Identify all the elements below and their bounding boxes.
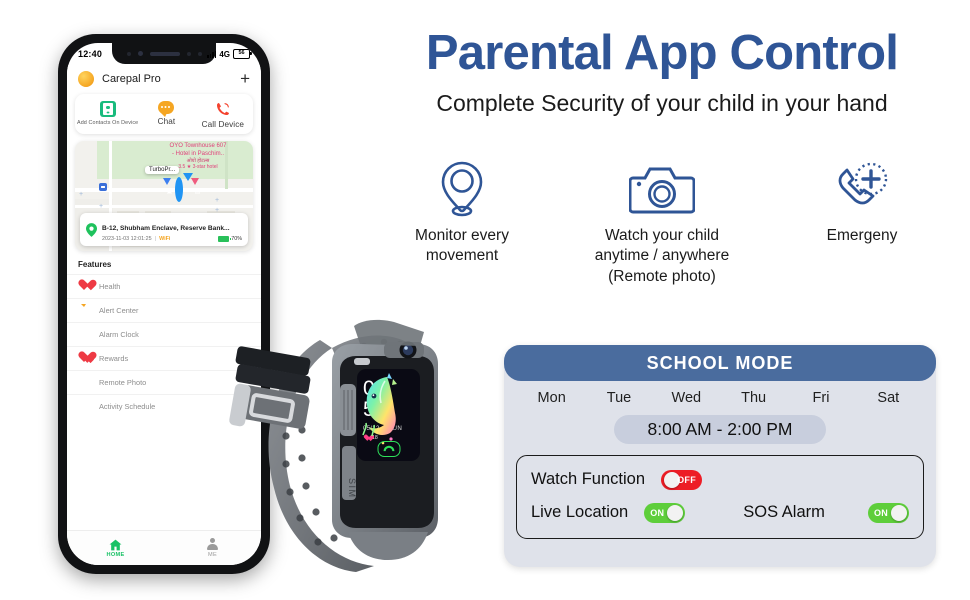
network-type-label: 4G <box>219 50 230 59</box>
map-card[interactable]: OYO Townhouse 607 - Hotel in Paschim.. ओ… <box>75 141 253 251</box>
battery-icon: 56 <box>233 49 250 59</box>
quick-action-chat[interactable]: Chat <box>138 101 194 129</box>
watch-screen: 02 56 05/12 SUN 18 <box>357 369 420 461</box>
page-subtitle: Complete Security of your child in your … <box>362 90 962 117</box>
emergency-call-icon <box>833 158 891 220</box>
toggle-state-label: ON <box>874 503 888 523</box>
home-icon <box>109 538 122 550</box>
weekday-sat[interactable]: Sat <box>855 390 922 406</box>
highlight-emergency: Emergeny <box>762 158 962 287</box>
map-address-bar[interactable]: B-12, Shubham Enclave, Reserve Bank... 2… <box>80 213 248 246</box>
toggle-label: SOS Alarm <box>743 503 825 522</box>
camera-icon <box>629 158 695 220</box>
person-icon <box>207 538 219 550</box>
remote-camera-icon <box>78 376 91 389</box>
address-timestamp: 2023-11-03 12:01:25 <box>102 236 152 242</box>
weekday-tue[interactable]: Tue <box>585 390 652 406</box>
weekday-thu[interactable]: Thu <box>720 390 787 406</box>
watch-function-toggle[interactable]: OFF <box>661 470 702 490</box>
phone-status-bar: 12:40 4G 56 <box>67 43 261 65</box>
school-mode-panel: SCHOOL MODE Mon Tue Wed Thu Fri Sat 8:00… <box>504 345 936 567</box>
map-plus-icon: + <box>79 191 83 198</box>
status-time: 12:40 <box>78 49 102 59</box>
feature-label: Alarm Clock <box>99 330 139 339</box>
features-section-title: Features <box>67 251 261 274</box>
location-pin-icon <box>440 158 484 220</box>
tab-label: HOME <box>107 552 125 558</box>
tab-home[interactable]: HOME <box>67 531 164 565</box>
phone-tab-bar: HOME ME <box>67 530 261 565</box>
quick-actions-card: Add Contacts On Device Chat Call Device <box>75 94 253 134</box>
poi-rating: 3.5 <box>178 164 185 170</box>
activity-schedule-icon <box>78 400 91 413</box>
weekday-fri[interactable]: Fri <box>787 390 854 406</box>
highlight-label-line1: Watch your child <box>595 226 729 246</box>
address-separator: | <box>155 236 156 242</box>
live-location-toggle[interactable]: ON <box>644 503 685 523</box>
add-device-button[interactable]: + <box>240 73 250 85</box>
status-indicators: 4G 56 <box>207 49 250 59</box>
map-tooltip: TurboPr... <box>145 166 179 174</box>
device-battery-label: 70% <box>231 236 242 242</box>
chat-bubble-icon <box>158 101 174 114</box>
device-battery-icon <box>218 236 229 242</box>
tab-label: ME <box>208 552 217 558</box>
sos-alarm-toggle[interactable]: ON <box>868 503 909 523</box>
tab-me[interactable]: ME <box>164 531 261 565</box>
feature-label: Alert Center <box>99 306 138 315</box>
weekday-wed[interactable]: Wed <box>653 390 720 406</box>
highlight-label-line1: Emergeny <box>827 226 898 246</box>
feature-highlights: Monitor every movement Watch your child … <box>362 158 962 287</box>
heart-icon <box>78 280 91 293</box>
phone-call-icon <box>215 101 231 117</box>
address-location-icon <box>86 223 97 237</box>
highlight-label-line2: anytime / anywhere <box>595 246 729 266</box>
rewards-hearts-icon <box>78 352 91 365</box>
toggle-state-label: OFF <box>677 470 696 490</box>
feature-label: Remote Photo <box>99 378 146 387</box>
highlight-label-line1: Monitor every <box>415 226 509 246</box>
map-pin-current[interactable] <box>175 181 192 202</box>
page-title: Parental App Control <box>362 28 962 79</box>
toggle-label: Live Location <box>531 503 628 522</box>
quick-action-label: Call Device <box>202 120 245 129</box>
highlight-label-line2: movement <box>415 246 509 266</box>
toggle-knob <box>667 505 683 521</box>
dolphin-wallpaper-icon <box>357 369 397 447</box>
poi-line-1: OYO Townhouse 607 <box>146 143 250 151</box>
map-marker-square-icon <box>99 183 107 191</box>
app-title: Carepal Pro <box>102 73 232 85</box>
toggle-state-label: ON <box>650 503 664 523</box>
toggle-label: Watch Function <box>531 470 645 489</box>
feature-label: Rewards <box>99 354 128 363</box>
app-header: Carepal Pro + <box>67 65 261 94</box>
connection-label: WiFi <box>159 236 170 242</box>
feature-label: Activity Schedule <box>99 402 155 411</box>
feature-item-health[interactable]: Health <box>67 274 261 298</box>
quick-action-call-device[interactable]: Call Device <box>195 101 251 129</box>
battery-level-label: 56 <box>238 51 244 57</box>
quick-action-add-contacts[interactable]: Add Contacts On Device <box>77 101 138 129</box>
alert-bubble-icon <box>78 304 91 317</box>
svg-text:SIM: SIM <box>347 478 357 499</box>
highlight-monitor-movement: Monitor every movement <box>362 158 562 287</box>
star-icon: ★ <box>187 164 191 170</box>
time-range-label: 8:00 AM - 2:00 PM <box>648 419 793 440</box>
poi-line-2: - Hotel in Paschim.. <box>146 151 250 159</box>
toggle-row-watch-function: Watch Function OFF <box>531 463 909 496</box>
school-mode-title: SCHOOL MODE <box>647 353 794 374</box>
quick-action-label: Add Contacts On Device <box>77 120 138 126</box>
alarm-clock-icon <box>78 328 91 341</box>
weekday-mon[interactable]: Mon <box>518 390 585 406</box>
quick-action-label: Chat <box>158 117 176 126</box>
school-mode-header: SCHOOL MODE <box>504 345 936 381</box>
map-plus-icon: + <box>99 203 103 210</box>
app-logo-icon <box>78 71 94 87</box>
toggle-row-live-location: Live Location ON SOS Alarm ON <box>531 496 909 529</box>
contacts-icon <box>100 101 116 117</box>
watch-call-button[interactable] <box>377 441 400 457</box>
feature-label: Health <box>99 282 120 291</box>
highlight-label-line3: (Remote photo) <box>595 267 729 287</box>
poster-canvas: 12:40 4G 56 Carepal Pro + Add Contacts O… <box>0 0 970 600</box>
poi-type: 3-star hotel <box>193 164 218 170</box>
toggle-knob <box>891 505 907 521</box>
highlight-remote-photo: Watch your child anytime / anywhere (Rem… <box>562 158 762 287</box>
toggle-group: Watch Function OFF Live Location ON SOS … <box>516 455 924 539</box>
signal-bars-icon <box>207 51 216 58</box>
map-plus-icon: + <box>215 197 219 204</box>
address-line: B-12, Shubham Enclave, Reserve Bank... <box>102 225 230 232</box>
school-time-range[interactable]: 8:00 AM - 2:00 PM <box>614 415 826 444</box>
weekday-row: Mon Tue Wed Thu Fri Sat <box>504 381 936 406</box>
